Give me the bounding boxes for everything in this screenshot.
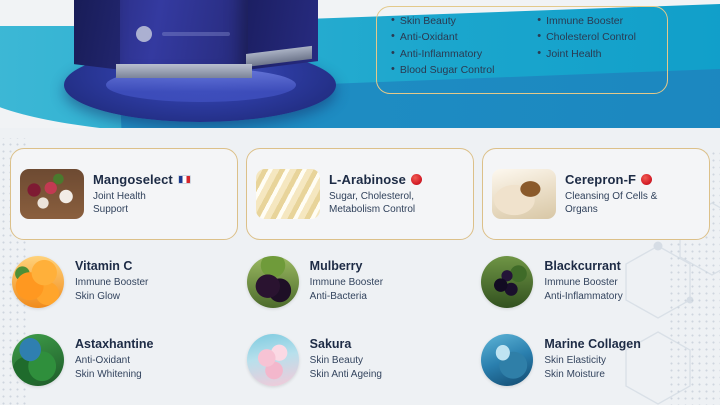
hero-section: • Skin Beauty • Anti-Oxidant • Anti-Infl… [0, 0, 720, 128]
feature-card-title-row: Cerepron-F [565, 172, 657, 187]
cerepron-image [492, 169, 556, 219]
ingredient-benefit-line: Anti-Bacteria [310, 290, 383, 304]
ingredient-vitamin-c[interactable]: Vitamin C Immune Booster Skin Glow [12, 250, 239, 328]
benefit-item: • Joint Health [537, 47, 657, 61]
benefit-label: Cholesterol Control [546, 30, 636, 44]
ingredient-benefit-line: Skin Beauty [310, 354, 382, 368]
benefit-item: • Blood Sugar Control [391, 63, 529, 77]
benefit-item: • Cholesterol Control [537, 30, 657, 44]
ingredient-title: Mulberry [310, 259, 383, 273]
product-box-detail-line [162, 32, 230, 36]
ingredient-text: Mulberry Immune Booster Anti-Bacteria [310, 256, 383, 304]
ingredients-grid: Vitamin C Immune Booster Skin Glow Mulbe… [0, 250, 720, 405]
ingredient-text: Blackcurrant Immune Booster Anti-Inflamm… [544, 256, 622, 304]
benefit-item: • Immune Booster [537, 14, 657, 28]
ingredient-benefit-line: Skin Elasticity [544, 354, 641, 368]
japan-flag-icon [641, 174, 652, 185]
bullet-icon: • [391, 63, 395, 76]
feature-card-title: L-Arabinose [329, 172, 406, 187]
feature-card-subtitle: Joint Health Support [93, 190, 191, 217]
ingredient-benefit-line: Skin Anti Ageing [310, 368, 382, 382]
benefit-label: Joint Health [546, 47, 601, 61]
ingredient-astaxhantine[interactable]: Astaxhantine Anti-Oxidant Skin Whitening [12, 328, 239, 405]
feature-card-title-row: L-Arabinose [329, 172, 422, 187]
bullet-icon: • [537, 30, 541, 43]
product-box-base [116, 64, 252, 78]
benefit-item: • Skin Beauty [391, 14, 529, 28]
section-divider [0, 128, 720, 138]
ingredient-text: Vitamin C Immune Booster Skin Glow [75, 256, 148, 304]
ingredient-text: Sakura Skin Beauty Skin Anti Ageing [310, 334, 382, 382]
feature-card-title: Mangoselect [93, 172, 173, 187]
ingredient-benefit-line: Anti-Oxidant [75, 354, 154, 368]
ingredient-benefit-line: Skin Moisture [544, 368, 641, 382]
ingredient-benefit-line: Immune Booster [544, 276, 622, 290]
product-box-left-face [74, 0, 122, 70]
product-box-emblem-icon [136, 26, 152, 42]
benefit-label: Anti-Inflammatory [400, 47, 482, 61]
feature-card-text: Cerepron-F Cleansing Of Cells & Organs [565, 172, 657, 217]
france-flag-icon [178, 175, 191, 184]
ingredient-title: Vitamin C [75, 259, 148, 273]
mulberry-image [247, 256, 299, 308]
ingredient-benefit-line: Skin Glow [75, 290, 148, 304]
ingredient-title: Astaxhantine [75, 337, 154, 351]
feature-card-subtitle: Cleansing Of Cells & Organs [565, 190, 657, 217]
japan-flag-icon [411, 174, 422, 185]
bullet-icon: • [391, 30, 395, 43]
benefit-label: Blood Sugar Control [400, 63, 495, 77]
product-box-image [58, 0, 343, 128]
feature-card-mangoselect[interactable]: Mangoselect Joint Health Support [10, 148, 238, 240]
ingredient-sakura[interactable]: Sakura Skin Beauty Skin Anti Ageing [239, 328, 474, 405]
ingredient-benefit-line: Immune Booster [310, 276, 383, 290]
ingredients-row-2: Astaxhantine Anti-Oxidant Skin Whitening… [0, 328, 720, 405]
feature-card-subtitle-line: Joint Health [93, 190, 191, 203]
feature-card-text: Mangoselect Joint Health Support [93, 172, 191, 217]
feature-card-l-arabinose[interactable]: L-Arabinose Sugar, Cholesterol, Metaboli… [246, 148, 474, 240]
benefit-item: • Anti-Inflammatory [391, 47, 529, 61]
ingredient-title: Marine Collagen [544, 337, 641, 351]
bullet-icon: • [391, 47, 395, 60]
ocean-water-image [481, 334, 533, 386]
ingredient-title: Blackcurrant [544, 259, 622, 273]
feature-card-text: L-Arabinose Sugar, Cholesterol, Metaboli… [329, 172, 422, 217]
ingredient-benefit-line: Anti-Inflammatory [544, 290, 622, 304]
bullet-icon: • [537, 14, 541, 27]
feature-card-subtitle-line: Sugar, Cholesterol, [329, 190, 422, 203]
benefit-label: Skin Beauty [400, 14, 456, 28]
ingredient-text: Marine Collagen Skin Elasticity Skin Moi… [544, 334, 641, 382]
mangosteen-image [20, 169, 84, 219]
feature-card-subtitle-line: Cleansing Of Cells & [565, 190, 657, 203]
bullet-icon: • [537, 47, 541, 60]
ingredient-benefit-line: Skin Whitening [75, 368, 154, 382]
feature-card-subtitle-line: Organs [565, 203, 657, 216]
feature-card-subtitle-line: Metabolism Control [329, 203, 422, 216]
ingredient-text: Astaxhantine Anti-Oxidant Skin Whitening [75, 334, 154, 382]
ingredient-benefits: Anti-Oxidant Skin Whitening [75, 354, 154, 382]
ingredient-benefits: Skin Elasticity Skin Moisture [544, 354, 641, 382]
ingredient-mulberry[interactable]: Mulberry Immune Booster Anti-Bacteria [239, 250, 474, 328]
blackcurrant-image [481, 256, 533, 308]
feature-card-subtitle: Sugar, Cholesterol, Metabolism Control [329, 190, 422, 217]
bullet-icon: • [391, 14, 395, 27]
ingredients-row-1: Vitamin C Immune Booster Skin Glow Mulbe… [0, 250, 720, 328]
ingredient-benefits: Immune Booster Anti-Inflammatory [544, 276, 622, 304]
ingredient-benefits: Skin Beauty Skin Anti Ageing [310, 354, 382, 382]
algae-image [12, 334, 64, 386]
benefit-label: Anti-Oxidant [400, 30, 458, 44]
benefit-item: • Anti-Oxidant [391, 30, 529, 44]
benefit-label: Immune Booster [546, 14, 623, 28]
ingredient-marine-collagen[interactable]: Marine Collagen Skin Elasticity Skin Moi… [473, 328, 708, 405]
feature-card-title-row: Mangoselect [93, 172, 191, 187]
feature-cards-row: Mangoselect Joint Health Support L-Arabi… [0, 148, 720, 240]
feature-card-cerepron-f[interactable]: Cerepron-F Cleansing Of Cells & Organs [482, 148, 710, 240]
benefits-column-1: • Skin Beauty • Anti-Oxidant • Anti-Infl… [391, 14, 529, 93]
benefits-column-2: • Immune Booster • Cholesterol Control •… [537, 14, 657, 93]
ingredient-blackcurrant[interactable]: Blackcurrant Immune Booster Anti-Inflamm… [473, 250, 708, 328]
ingredient-benefits: Immune Booster Anti-Bacteria [310, 276, 383, 304]
feature-card-title: Cerepron-F [565, 172, 636, 187]
feature-card-subtitle-line: Support [93, 203, 191, 216]
ingredient-title: Sakura [310, 337, 382, 351]
arabinose-image [256, 169, 320, 219]
oranges-image [12, 256, 64, 308]
benefits-box: • Skin Beauty • Anti-Oxidant • Anti-Infl… [376, 6, 668, 94]
ingredient-benefits: Immune Booster Skin Glow [75, 276, 148, 304]
cherry-blossom-image [247, 334, 299, 386]
ingredient-benefit-line: Immune Booster [75, 276, 148, 290]
